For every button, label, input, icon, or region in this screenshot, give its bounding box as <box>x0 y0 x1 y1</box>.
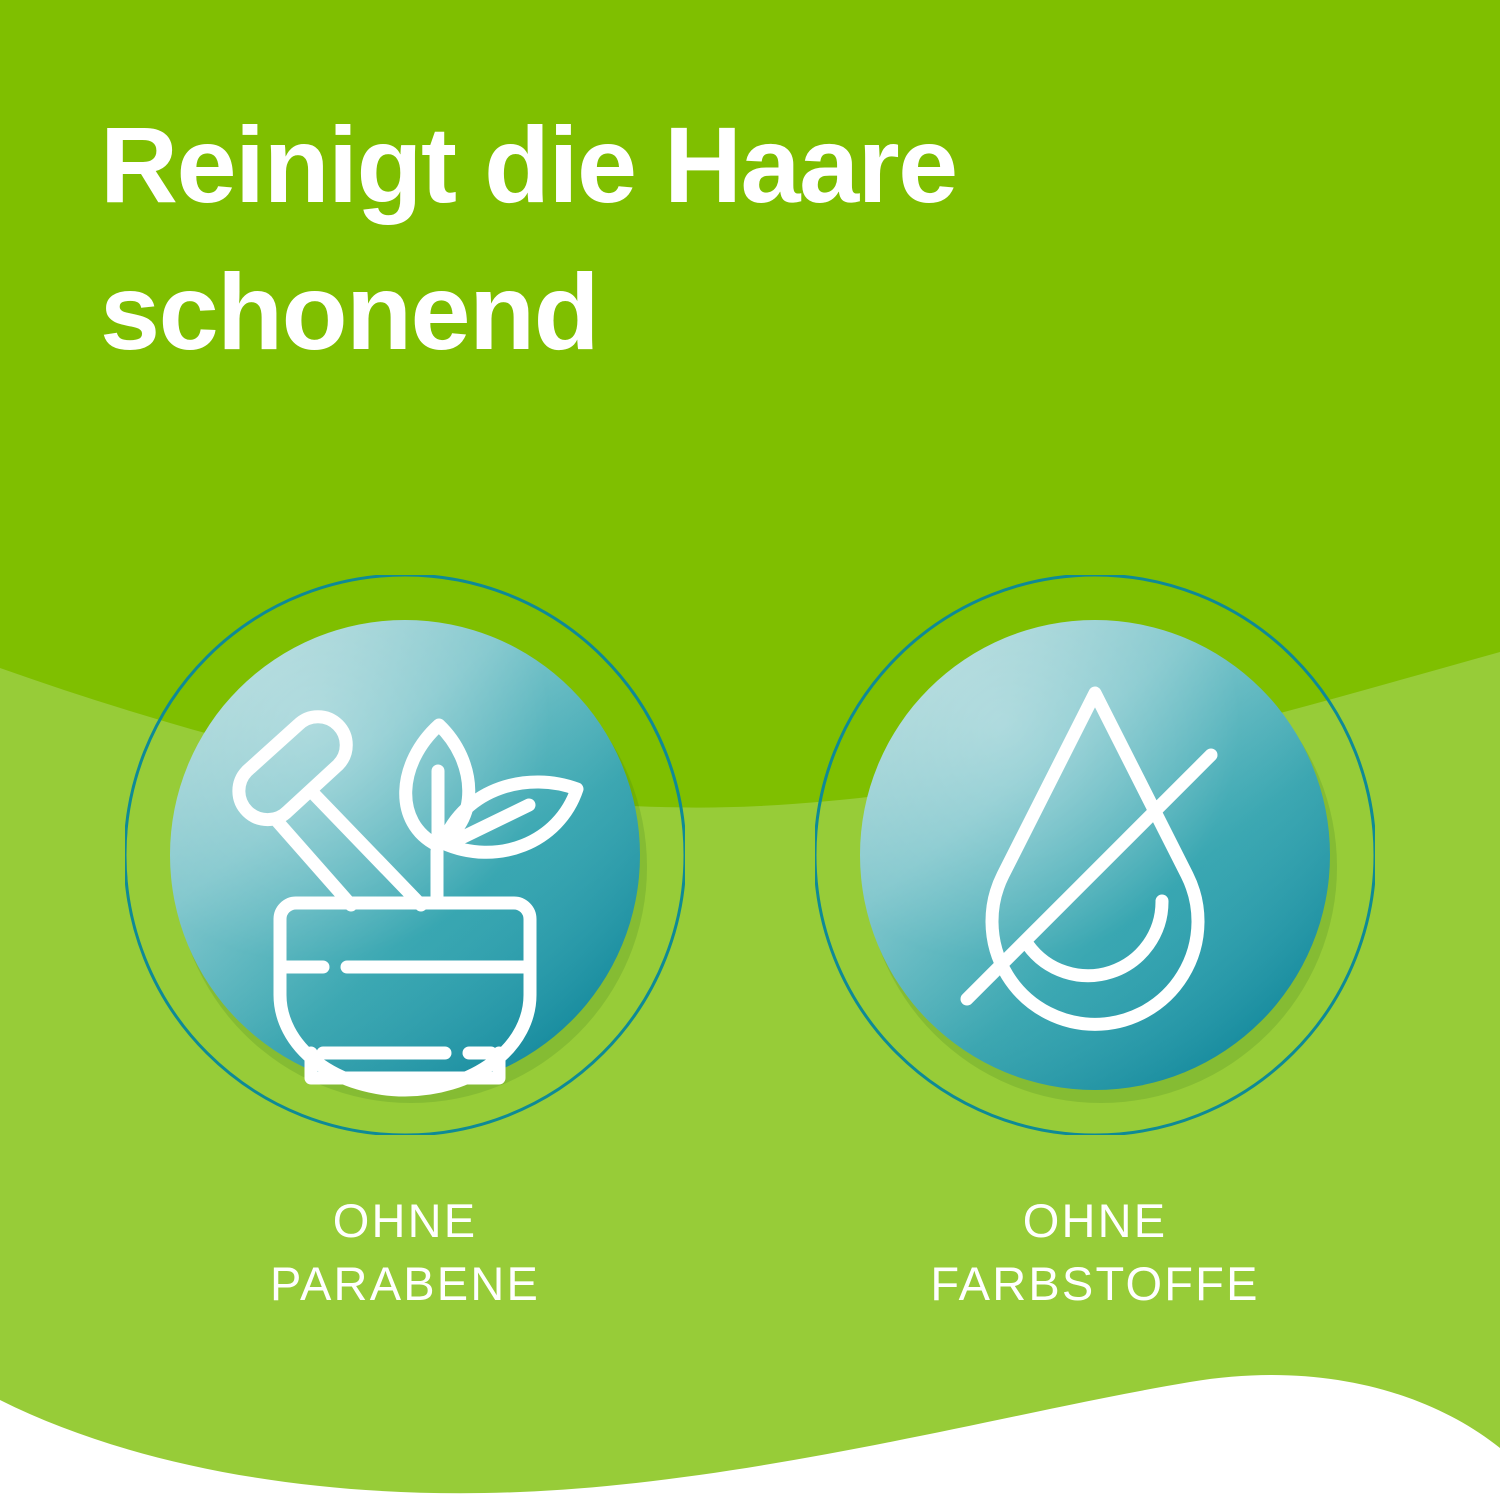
badge-label-ohne-parabene: OHNE PARABENE <box>125 1190 685 1315</box>
benefit-badge-ohne-farbstoffe: OHNE FARBSTOFFE <box>815 575 1375 1135</box>
badge-disc <box>815 575 1375 1135</box>
no-water-drop-icon <box>815 575 1375 1135</box>
product-benefit-graphic: Reinigt die Haare schonend <box>0 0 1500 1500</box>
benefit-badge-ohne-parabene: OHNE PARABENE <box>125 575 685 1135</box>
badge-label-ohne-farbstoffe: OHNE FARBSTOFFE <box>815 1190 1375 1315</box>
badge-disc-shading <box>170 620 640 1090</box>
mortar-and-pestle-icon <box>125 575 685 1135</box>
badge-disc <box>125 575 685 1135</box>
page-title: Reinigt die Haare schonend <box>100 92 1280 386</box>
